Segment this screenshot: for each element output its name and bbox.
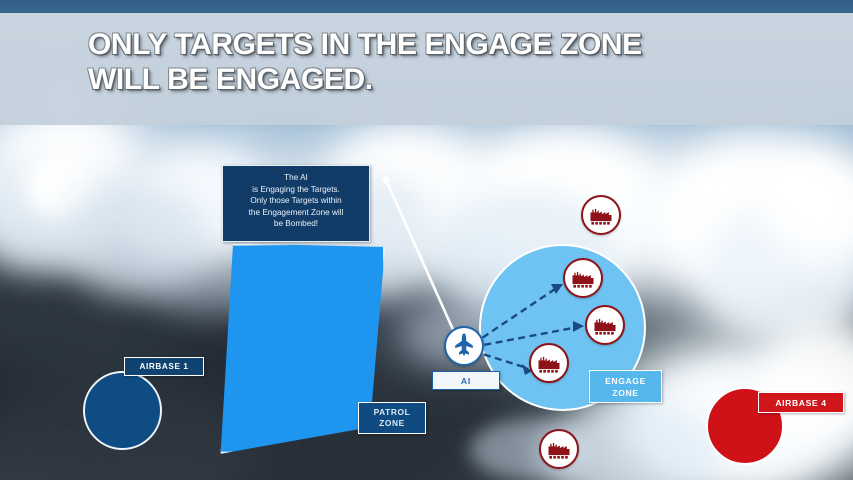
slide-canvas: ONLY TARGETS IN THE ENGAGE ZONE WILL BE … [0,0,853,480]
factory-target-icon[interactable] [585,305,625,345]
airbase-1-shape[interactable] [83,371,162,450]
ai-engagement-callout: The AI is Engaging the Targets. Only tho… [222,165,370,242]
label-engage-zone[interactable]: ENGAGE ZONE [589,370,662,403]
label-patrol-zone[interactable]: PATROL ZONE [358,402,426,434]
factory-target-icon[interactable] [581,195,621,235]
factory-target-icon[interactable] [563,258,603,298]
factory-target-icon[interactable] [539,429,579,469]
page-title: ONLY TARGETS IN THE ENGAGE ZONE WILL BE … [88,27,818,97]
label-airbase-4[interactable]: AIRBASE 4 [758,392,844,413]
label-ai[interactable]: AI [432,371,500,390]
fighter-jet-icon[interactable] [444,326,484,366]
factory-target-icon[interactable] [529,343,569,383]
label-airbase-1[interactable]: AIRBASE 1 [124,357,204,376]
